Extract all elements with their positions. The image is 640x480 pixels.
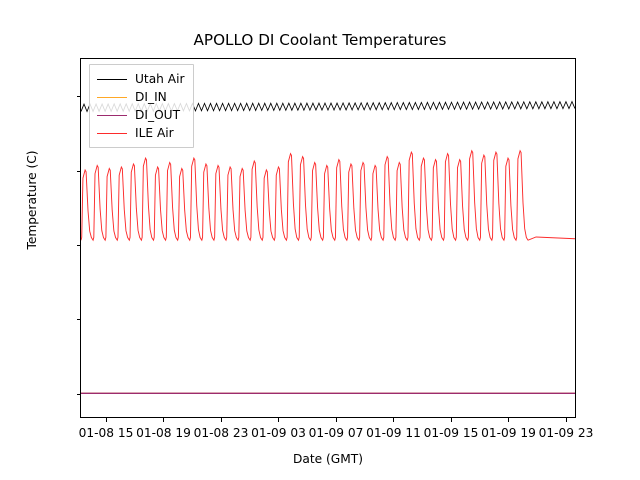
legend-color-swatch	[97, 133, 127, 134]
x-tick-label: 01-09 11	[366, 426, 421, 440]
legend-label: DI_IN	[135, 90, 167, 104]
x-tick-label: 01-09 07	[309, 426, 364, 440]
x-tick-mark	[163, 418, 164, 422]
series-line-ile-air	[81, 151, 575, 240]
legend-color-swatch	[97, 79, 127, 80]
legend-color-swatch	[97, 97, 127, 98]
legend-item: DI_OUT	[97, 106, 185, 124]
x-tick-mark	[508, 418, 509, 422]
x-tick-label: 01-09 03	[251, 426, 306, 440]
chart-title: APOLLO DI Coolant Temperatures	[0, 31, 640, 49]
legend-label: ILE Air	[135, 126, 174, 140]
legend-label: Utah Air	[135, 72, 185, 86]
legend-color-swatch	[97, 115, 127, 116]
x-tick-mark	[106, 418, 107, 422]
figure-canvas: APOLLO DI Coolant Temperatures Temperatu…	[0, 0, 640, 480]
x-tick-mark	[393, 418, 394, 422]
x-tick-mark	[451, 418, 452, 422]
x-tick-mark	[336, 418, 337, 422]
x-tick-mark	[221, 418, 222, 422]
legend-item: Utah Air	[97, 70, 185, 88]
legend-item: DI_IN	[97, 88, 185, 106]
chart-legend: Utah AirDI_INDI_OUTILE Air	[89, 64, 194, 148]
x-tick-label: 01-09 23	[539, 426, 594, 440]
y-axis-label: Temperature (C)	[25, 40, 39, 360]
x-tick-mark	[566, 418, 567, 422]
x-axis-label: Date (GMT)	[80, 452, 576, 466]
x-tick-label: 01-08 23	[194, 426, 249, 440]
legend-label: DI_OUT	[135, 108, 180, 122]
x-tick-label: 01-09 19	[481, 426, 536, 440]
x-tick-mark	[278, 418, 279, 422]
x-tick-label: 01-09 15	[424, 426, 479, 440]
x-tick-label: 01-08 15	[79, 426, 134, 440]
legend-item: ILE Air	[97, 124, 185, 142]
x-tick-label: 01-08 19	[136, 426, 191, 440]
